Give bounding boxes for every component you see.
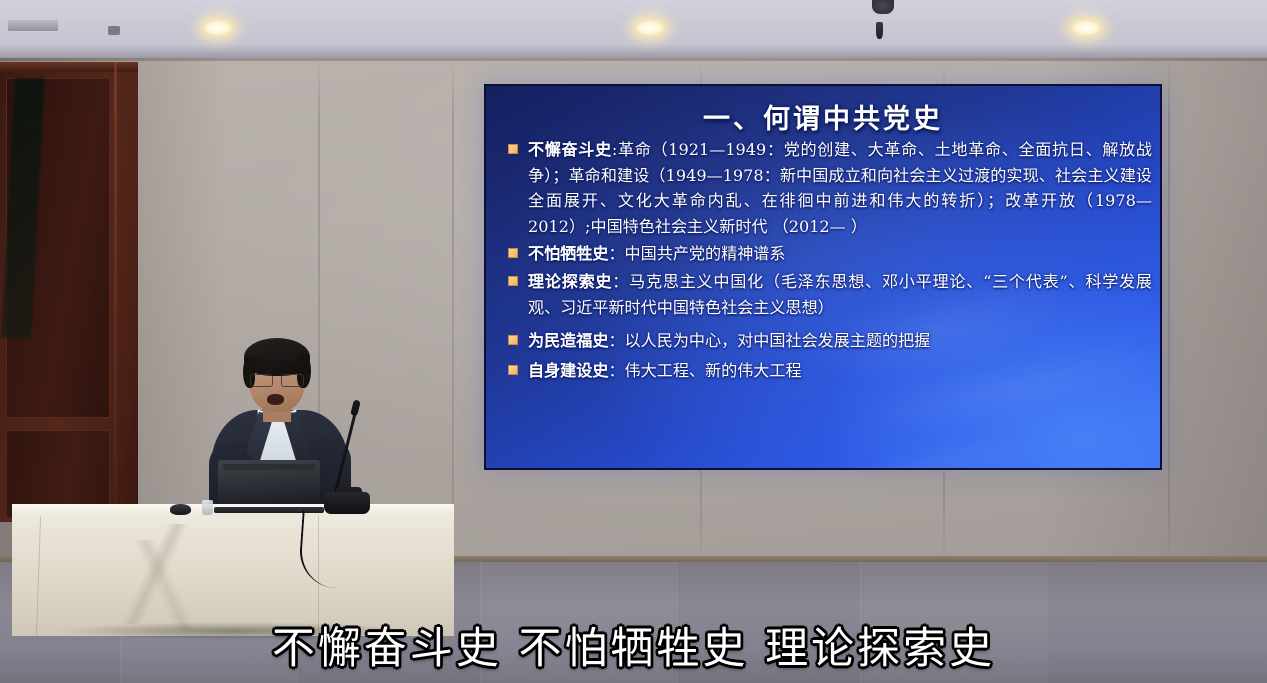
ceiling-vent bbox=[8, 20, 58, 31]
ceiling-speaker-icon bbox=[872, 0, 894, 14]
list-item: 理论探索史：马克思主义中国化（毛泽东思想、邓小平理论、“三个代表”、科学发展观、… bbox=[504, 269, 1152, 320]
bullet-lead: 自身建设史 bbox=[528, 361, 608, 380]
wood-panel-stile bbox=[114, 62, 117, 522]
bullet-body: :革命（1921—1949：党的创建、大革命、土地革命、全面抗日、解放战争）；革… bbox=[528, 140, 1152, 236]
bullet-marker-icon bbox=[508, 335, 518, 345]
bullet-body: ：马克思主义中国化（毛泽东思想、邓小平理论、“三个代表”、科学发展观、习近平新时… bbox=[528, 272, 1152, 317]
bullet-body: ：伟大工程、新的伟大工程 bbox=[608, 361, 801, 380]
bullet-marker-icon bbox=[508, 276, 518, 286]
bullet-body: ：中国共产党的精神谱系 bbox=[608, 244, 785, 263]
bullet-lead: 不懈奋斗史 bbox=[528, 140, 612, 159]
slide-bullet-list: 不懈奋斗史:革命（1921—1949：党的创建、大革命、土地革命、全面抗日、解放… bbox=[504, 137, 1152, 385]
computer-mouse[interactable] bbox=[170, 504, 191, 515]
list-item: 为民造福史：以人民为中心，对中国社会发展主题的把握 bbox=[504, 328, 1152, 354]
ceiling-sprinkler-icon bbox=[108, 26, 120, 35]
video-subtitle: 不懈奋斗史 不怕牺牲史 理论探索史 bbox=[0, 614, 1267, 676]
projection-screen[interactable]: 一、何谓中共党史 不懈奋斗史:革命（1921—1949：党的创建、大革命、土地革… bbox=[486, 86, 1160, 468]
bullet-marker-icon bbox=[508, 248, 518, 258]
water-glass bbox=[202, 500, 213, 515]
bullet-lead: 为民造福史 bbox=[528, 331, 608, 350]
bullet-marker-icon bbox=[508, 144, 518, 154]
list-item: 不懈奋斗史:革命（1921—1949：党的创建、大革命、土地革命、全面抗日、解放… bbox=[504, 137, 1152, 239]
ceiling-sensor-icon bbox=[876, 22, 883, 39]
bullet-lead: 不怕牺牲史 bbox=[528, 244, 608, 263]
laptop-bezel bbox=[223, 464, 315, 470]
list-item: 自身建设史：伟大工程、新的伟大工程 bbox=[504, 358, 1152, 384]
list-item: 不怕牺牲史：中国共产党的精神谱系 bbox=[504, 241, 1152, 267]
wood-panel-cap bbox=[0, 62, 138, 72]
presenter-mouth bbox=[267, 394, 284, 405]
slide-title: 一、何谓中共党史 bbox=[486, 97, 1160, 136]
bullet-body: ：以人民为中心，对中国社会发展主题的把握 bbox=[608, 331, 930, 350]
bullet-lead: 理论探索史 bbox=[528, 272, 612, 291]
lecture-room-scene: 一、何谓中共党史 不懈奋斗史:革命（1921—1949：党的创建、大革命、土地革… bbox=[0, 0, 1267, 683]
bullet-marker-icon bbox=[508, 365, 518, 375]
eyeglasses-icon bbox=[250, 374, 304, 385]
